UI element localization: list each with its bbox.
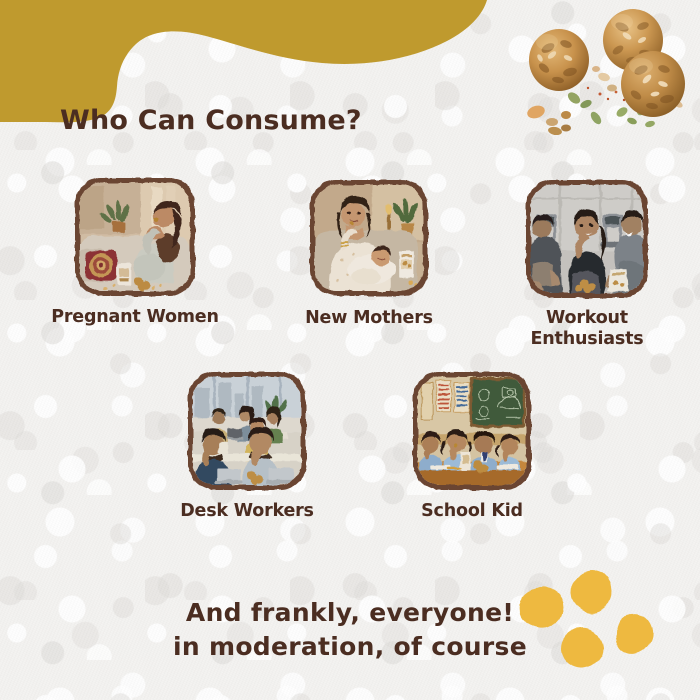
card-label-pregnant-women: Pregnant Women	[25, 307, 245, 328]
card-label-workout-enthusiasts: Workout Enthusiasts	[512, 308, 662, 350]
card-pregnant-women[interactable]	[75, 178, 195, 296]
card-label-new-mothers: New Mothers	[259, 308, 479, 329]
footer-tagline-line2: in moderation, of course	[0, 630, 700, 664]
school-children-classroom-photo	[418, 377, 526, 485]
energy-balls-ladoo-image	[500, 0, 700, 135]
card-new-mothers[interactable]	[310, 180, 428, 296]
photo-frame	[310, 180, 428, 296]
office-desk-workers-photo	[193, 377, 301, 485]
footer-tagline-line1: And frankly, everyone!	[186, 598, 514, 627]
photo-frame	[526, 180, 648, 298]
card-label-desk-workers: Desk Workers	[137, 501, 357, 522]
photo-frame	[413, 372, 531, 490]
footer-tagline: And frankly, everyone! in moderation, of…	[0, 562, 700, 698]
pregnant-woman-eating-ladoo-photo	[80, 183, 190, 291]
photo-frame	[188, 372, 306, 490]
card-school-kid[interactable]	[413, 372, 531, 490]
card-desk-workers[interactable]	[188, 372, 306, 490]
photo-frame	[75, 178, 195, 296]
page-title: Who Can Consume?	[60, 105, 362, 136]
card-label-school-kid: School Kid	[362, 501, 582, 522]
new-mother-holding-baby-photo	[315, 185, 423, 291]
card-workout-enthusiasts[interactable]	[526, 180, 648, 298]
gym-workout-people-photo	[531, 185, 643, 293]
poster-canvas: Who Can Consume?	[0, 0, 700, 700]
